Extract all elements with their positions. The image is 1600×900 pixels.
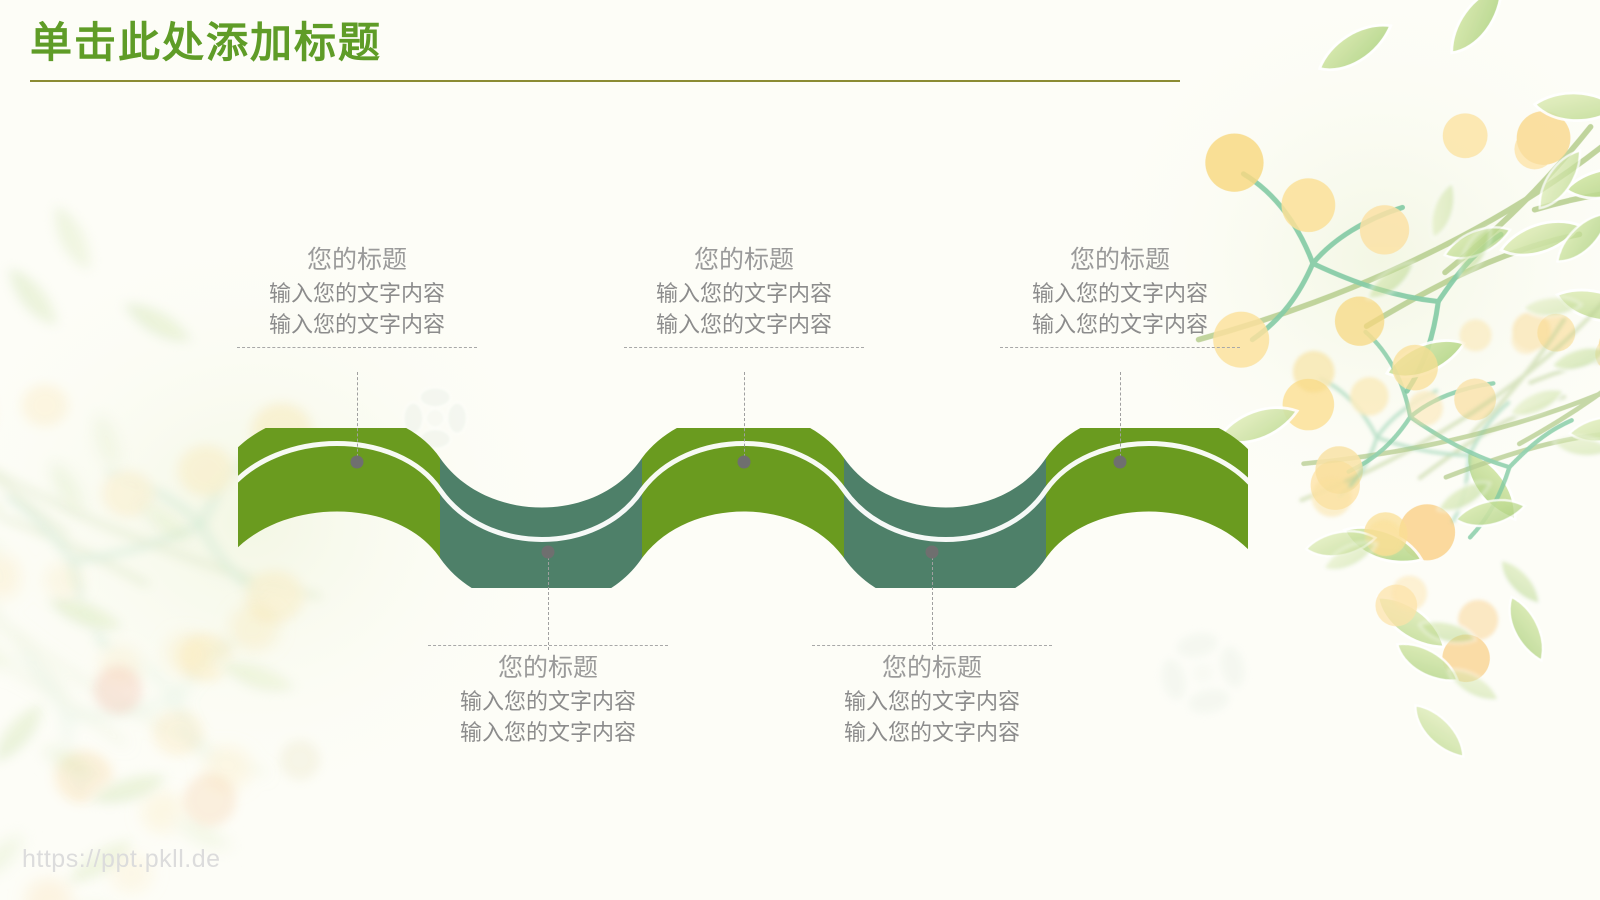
callout-line-1: 输入您的文字内容 (1000, 279, 1240, 309)
connector-stem-5 (1120, 372, 1121, 462)
connector-stem-2 (548, 552, 549, 650)
callout-4[interactable]: 您的标题 输入您的文字内容 输入您的文字内容 (812, 645, 1052, 748)
callout-line-1: 输入您的文字内容 (812, 687, 1052, 717)
callout-line-2: 输入您的文字内容 (237, 310, 477, 340)
callout-underline (428, 645, 668, 646)
callout-line-2: 输入您的文字内容 (428, 718, 668, 748)
connector-dot-3 (738, 456, 751, 469)
connector-dot-4 (926, 546, 939, 559)
slide-canvas: 单击此处添加标题 (0, 0, 1600, 900)
callout-3[interactable]: 您的标题 输入您的文字内容 输入您的文字内容 (624, 245, 864, 348)
callout-underline (1000, 347, 1240, 348)
callout-line-2: 输入您的文字内容 (1000, 310, 1240, 340)
callout-underline (237, 347, 477, 348)
wave-ribbon-diagram (238, 428, 1248, 588)
callout-2[interactable]: 您的标题 输入您的文字内容 输入您的文字内容 (428, 645, 668, 748)
callout-underline (624, 347, 864, 348)
callout-line-2: 输入您的文字内容 (812, 718, 1052, 748)
callout-heading: 您的标题 (624, 245, 864, 276)
connector-dot-5 (1114, 456, 1127, 469)
callout-heading: 您的标题 (428, 653, 668, 684)
connector-stem-4 (932, 552, 933, 650)
title-divider (30, 80, 1180, 82)
connector-stem-1 (357, 372, 358, 462)
callout-underline (812, 645, 1052, 646)
callout-5[interactable]: 您的标题 输入您的文字内容 输入您的文字内容 (1000, 245, 1240, 348)
connector-stem-3 (744, 372, 745, 462)
callout-heading: 您的标题 (237, 245, 477, 276)
callout-heading: 您的标题 (812, 653, 1052, 684)
callout-line-1: 输入您的文字内容 (428, 687, 668, 717)
connector-dot-2 (542, 546, 555, 559)
callout-heading: 您的标题 (1000, 245, 1240, 276)
callout-line-1: 输入您的文字内容 (624, 279, 864, 309)
title-block: 单击此处添加标题 (30, 18, 1190, 82)
callout-line-1: 输入您的文字内容 (237, 279, 477, 309)
watermark: https://ppt.pkll.de (22, 845, 221, 874)
callout-line-2: 输入您的文字内容 (624, 310, 864, 340)
callout-1[interactable]: 您的标题 输入您的文字内容 输入您的文字内容 (237, 245, 477, 348)
connector-dot-1 (351, 456, 364, 469)
page-title[interactable]: 单击此处添加标题 (30, 18, 1190, 68)
